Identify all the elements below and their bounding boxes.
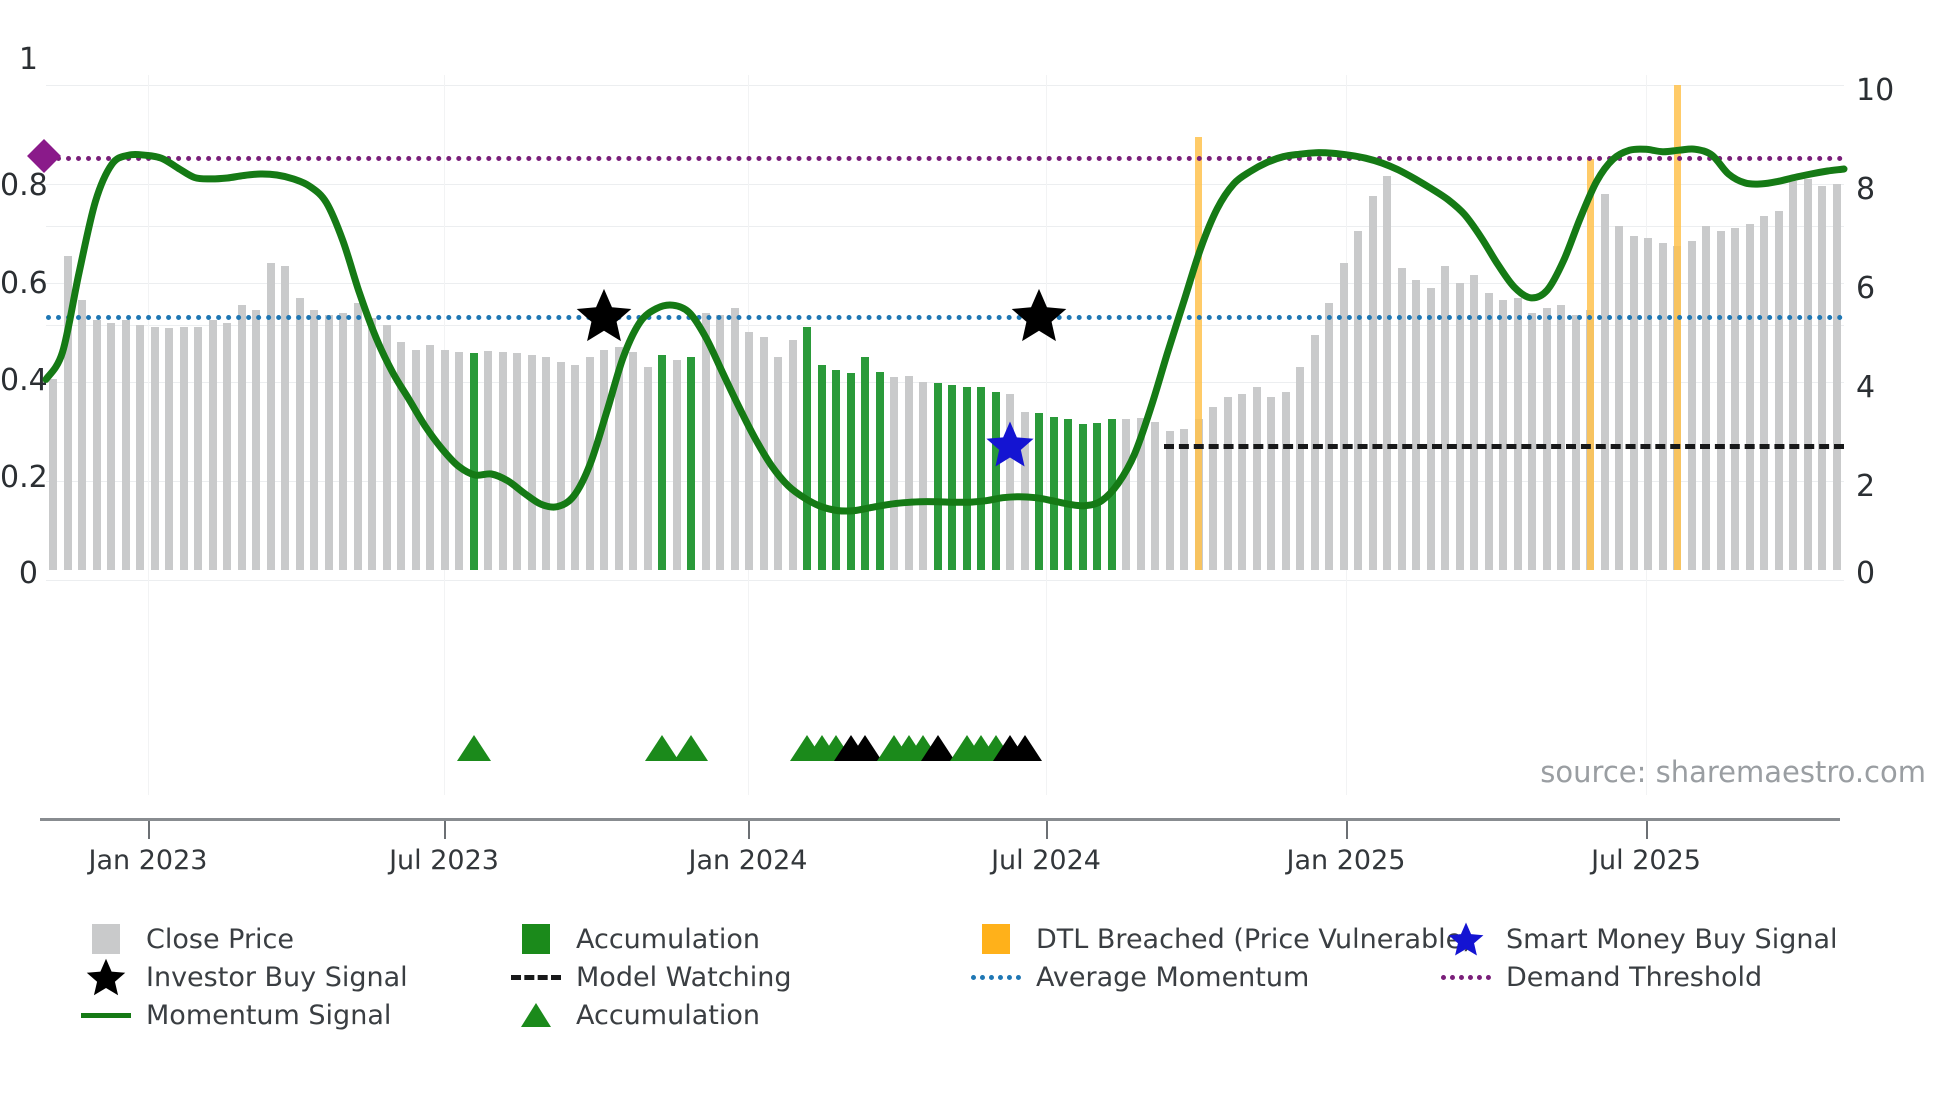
y-axis-right-tick: 2 xyxy=(1856,469,1926,504)
source-attribution: source: sharemaestro.com xyxy=(1540,755,1926,789)
legend-item-accumulation-triangle[interactable]: Accumulation xyxy=(510,996,970,1034)
y-axis-left-tick: 0.4 xyxy=(0,363,38,398)
y-axis-right-tick: 10 xyxy=(1856,73,1926,108)
legend-item-close-price[interactable]: Close Price xyxy=(80,920,510,958)
y-axis-right-tick: 8 xyxy=(1856,172,1926,207)
legend-item-accumulation-bar[interactable]: Accumulation xyxy=(510,920,970,958)
x-axis-tickmark xyxy=(444,821,446,839)
legend-label: Investor Buy Signal xyxy=(146,962,408,993)
y-axis-left-tick: 0 xyxy=(0,556,38,591)
x-axis-tick-label: Jan 2023 xyxy=(48,845,248,876)
legend-item-model-watching[interactable]: Model Watching xyxy=(510,958,970,996)
y-axis-right-tick: 6 xyxy=(1856,271,1926,306)
y-axis-right-tick: 4 xyxy=(1856,370,1926,405)
green-triangle-icon xyxy=(510,1003,562,1027)
legend-label: Momentum Signal xyxy=(146,1000,391,1031)
y-axis-left-tick: 1 xyxy=(0,42,38,77)
blue-star-icon xyxy=(1440,920,1492,958)
legend-item-dtl-breached[interactable]: DTL Breached (Price Vulnerable) xyxy=(970,920,1440,958)
blue-dotted-line-icon xyxy=(970,975,1022,980)
y-axis-right-tick: 0 xyxy=(1856,556,1926,591)
plot-area xyxy=(46,75,1844,570)
gridline xyxy=(46,580,1844,581)
legend-label: DTL Breached (Price Vulnerable) xyxy=(1036,924,1473,955)
x-axis-tickmark xyxy=(1346,821,1348,839)
accumulation-triangle-green xyxy=(457,735,491,761)
legend-label: Demand Threshold xyxy=(1506,962,1762,993)
x-axis-tickmark xyxy=(748,821,750,839)
legend-label: Average Momentum xyxy=(1036,962,1309,993)
y-axis-left-tick: 0.2 xyxy=(0,460,38,495)
legend-label: Close Price xyxy=(146,924,294,955)
x-axis-tick-label: Jan 2025 xyxy=(1246,845,1446,876)
x-axis-tickmark xyxy=(1046,821,1048,839)
x-axis-tickmark xyxy=(148,821,150,839)
x-axis-tick-label: Jan 2024 xyxy=(648,845,848,876)
legend-item-smart-money-buy-signal[interactable]: Smart Money Buy Signal xyxy=(1440,920,1900,958)
legend-label: Smart Money Buy Signal xyxy=(1506,924,1838,955)
legend-label: Accumulation xyxy=(576,1000,760,1031)
legend-item-average-momentum[interactable]: Average Momentum xyxy=(970,958,1440,996)
x-axis-line xyxy=(40,818,1840,821)
green-line-icon xyxy=(80,1013,132,1018)
black-dashed-line-icon xyxy=(510,975,562,980)
chart-legend: Close Price Accumulation DTL Breached (P… xyxy=(80,920,1940,1034)
y-axis-left-tick: 0.8 xyxy=(0,168,38,203)
green-square-icon xyxy=(510,924,562,954)
accumulation-triangle-black xyxy=(1008,735,1042,761)
x-axis-tickmark xyxy=(1646,821,1648,839)
purple-dotted-line-icon xyxy=(1440,975,1492,980)
grey-square-icon xyxy=(80,924,132,954)
chart-canvas: 1 0.8 0.6 0.4 0.2 0 10 8 6 4 2 0 xyxy=(0,0,1960,1102)
accumulation-triangle-green xyxy=(674,735,708,761)
legend-item-investor-buy-signal[interactable]: Investor Buy Signal xyxy=(80,958,510,996)
legend-item-demand-threshold[interactable]: Demand Threshold xyxy=(1440,958,1900,996)
black-star-icon xyxy=(80,956,132,998)
y-axis-left-tick: 0.6 xyxy=(0,266,38,301)
legend-item-momentum-signal[interactable]: Momentum Signal xyxy=(80,996,510,1034)
momentum-signal-line xyxy=(46,75,1844,570)
legend-label: Accumulation xyxy=(576,924,760,955)
legend-label: Model Watching xyxy=(576,962,791,993)
x-axis-tick-label: Jul 2023 xyxy=(344,845,544,876)
orange-square-icon xyxy=(970,924,1022,954)
x-axis-tick-label: Jul 2025 xyxy=(1546,845,1746,876)
x-axis-tick-label: Jul 2024 xyxy=(946,845,1146,876)
